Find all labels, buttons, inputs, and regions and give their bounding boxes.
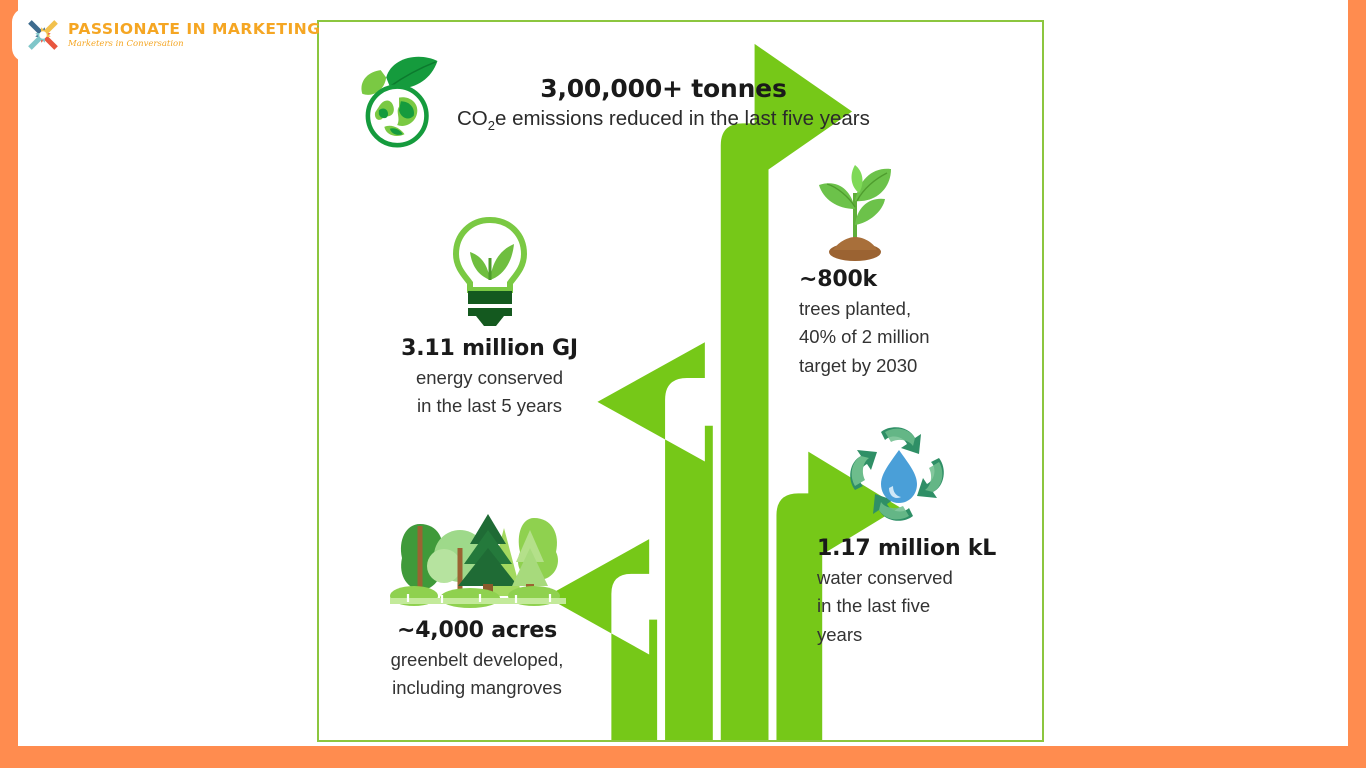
stat-value-energy: 3.11 million GJ [347, 336, 632, 361]
stat-desc-trees: trees planted, 40% of 2 million target b… [799, 295, 1029, 380]
stat-desc-line: water conserved [817, 564, 1042, 592]
stat-value-trees: ~800k [799, 267, 1029, 292]
stat-desc-water: water conserved in the last five years [817, 564, 1042, 649]
stat-value-greenbelt: ~4,000 acres [327, 618, 627, 643]
headline-block: 3,00,000+ tonnes CO2e emissions reduced … [353, 48, 1043, 158]
stat-desc-line: 40% of 2 million [799, 323, 1029, 351]
headline-sub-before: CO [457, 107, 488, 130]
infographic-card: 3,00,000+ tonnes CO2e emissions reduced … [317, 20, 1044, 742]
stat-desc-line: in the last 5 years [347, 392, 632, 420]
infographic-page: PASSIONATE IN MARKETING Marketers in Con… [0, 0, 1366, 768]
forest-trees-icon [384, 500, 570, 612]
stat-block-energy: 3.11 million GJ energy conserved in the … [347, 214, 632, 421]
headline-title: 3,00,000+ tonnes [457, 74, 870, 103]
stat-desc-line: greenbelt developed, [327, 646, 627, 674]
pinwheel-arrows-logo-icon [22, 14, 64, 56]
stat-desc-line: energy conserved [347, 364, 632, 392]
headline-sub-after: e emissions reduced in the last five yea… [495, 107, 870, 130]
headline-sub-subscript: 2 [488, 118, 495, 133]
brand-logo-pill[interactable]: PASSIONATE IN MARKETING Marketers in Con… [12, 8, 240, 62]
stat-desc-line: trees planted, [799, 295, 1029, 323]
stat-desc-line: years [817, 621, 1042, 649]
stat-desc-line: in the last five [817, 592, 1042, 620]
stat-desc-energy: energy conserved in the last 5 years [347, 364, 632, 421]
sapling-plant-icon [807, 157, 903, 261]
stat-value-water: 1.17 million kL [817, 536, 1042, 561]
stat-desc-line: target by 2030 [799, 352, 1029, 380]
stat-desc-line: including mangroves [327, 674, 627, 702]
brand-tagline: Marketers in Conversation [68, 40, 320, 49]
water-recycle-droplet-icon [843, 422, 955, 526]
green-globe-leaf-icon [353, 50, 445, 158]
lightbulb-leaf-icon [448, 214, 532, 326]
brand-name: PASSIONATE IN MARKETING [68, 22, 320, 38]
stat-block-trees: ~800k trees planted, 40% of 2 million ta… [799, 157, 1029, 380]
stat-block-water: 1.17 million kL water conserved in the l… [817, 422, 1042, 649]
stat-desc-greenbelt: greenbelt developed, including mangroves [327, 646, 627, 703]
stat-block-greenbelt: ~4,000 acres greenbelt developed, includ… [327, 500, 627, 703]
headline-subtitle: CO2e emissions reduced in the last five … [457, 107, 870, 133]
